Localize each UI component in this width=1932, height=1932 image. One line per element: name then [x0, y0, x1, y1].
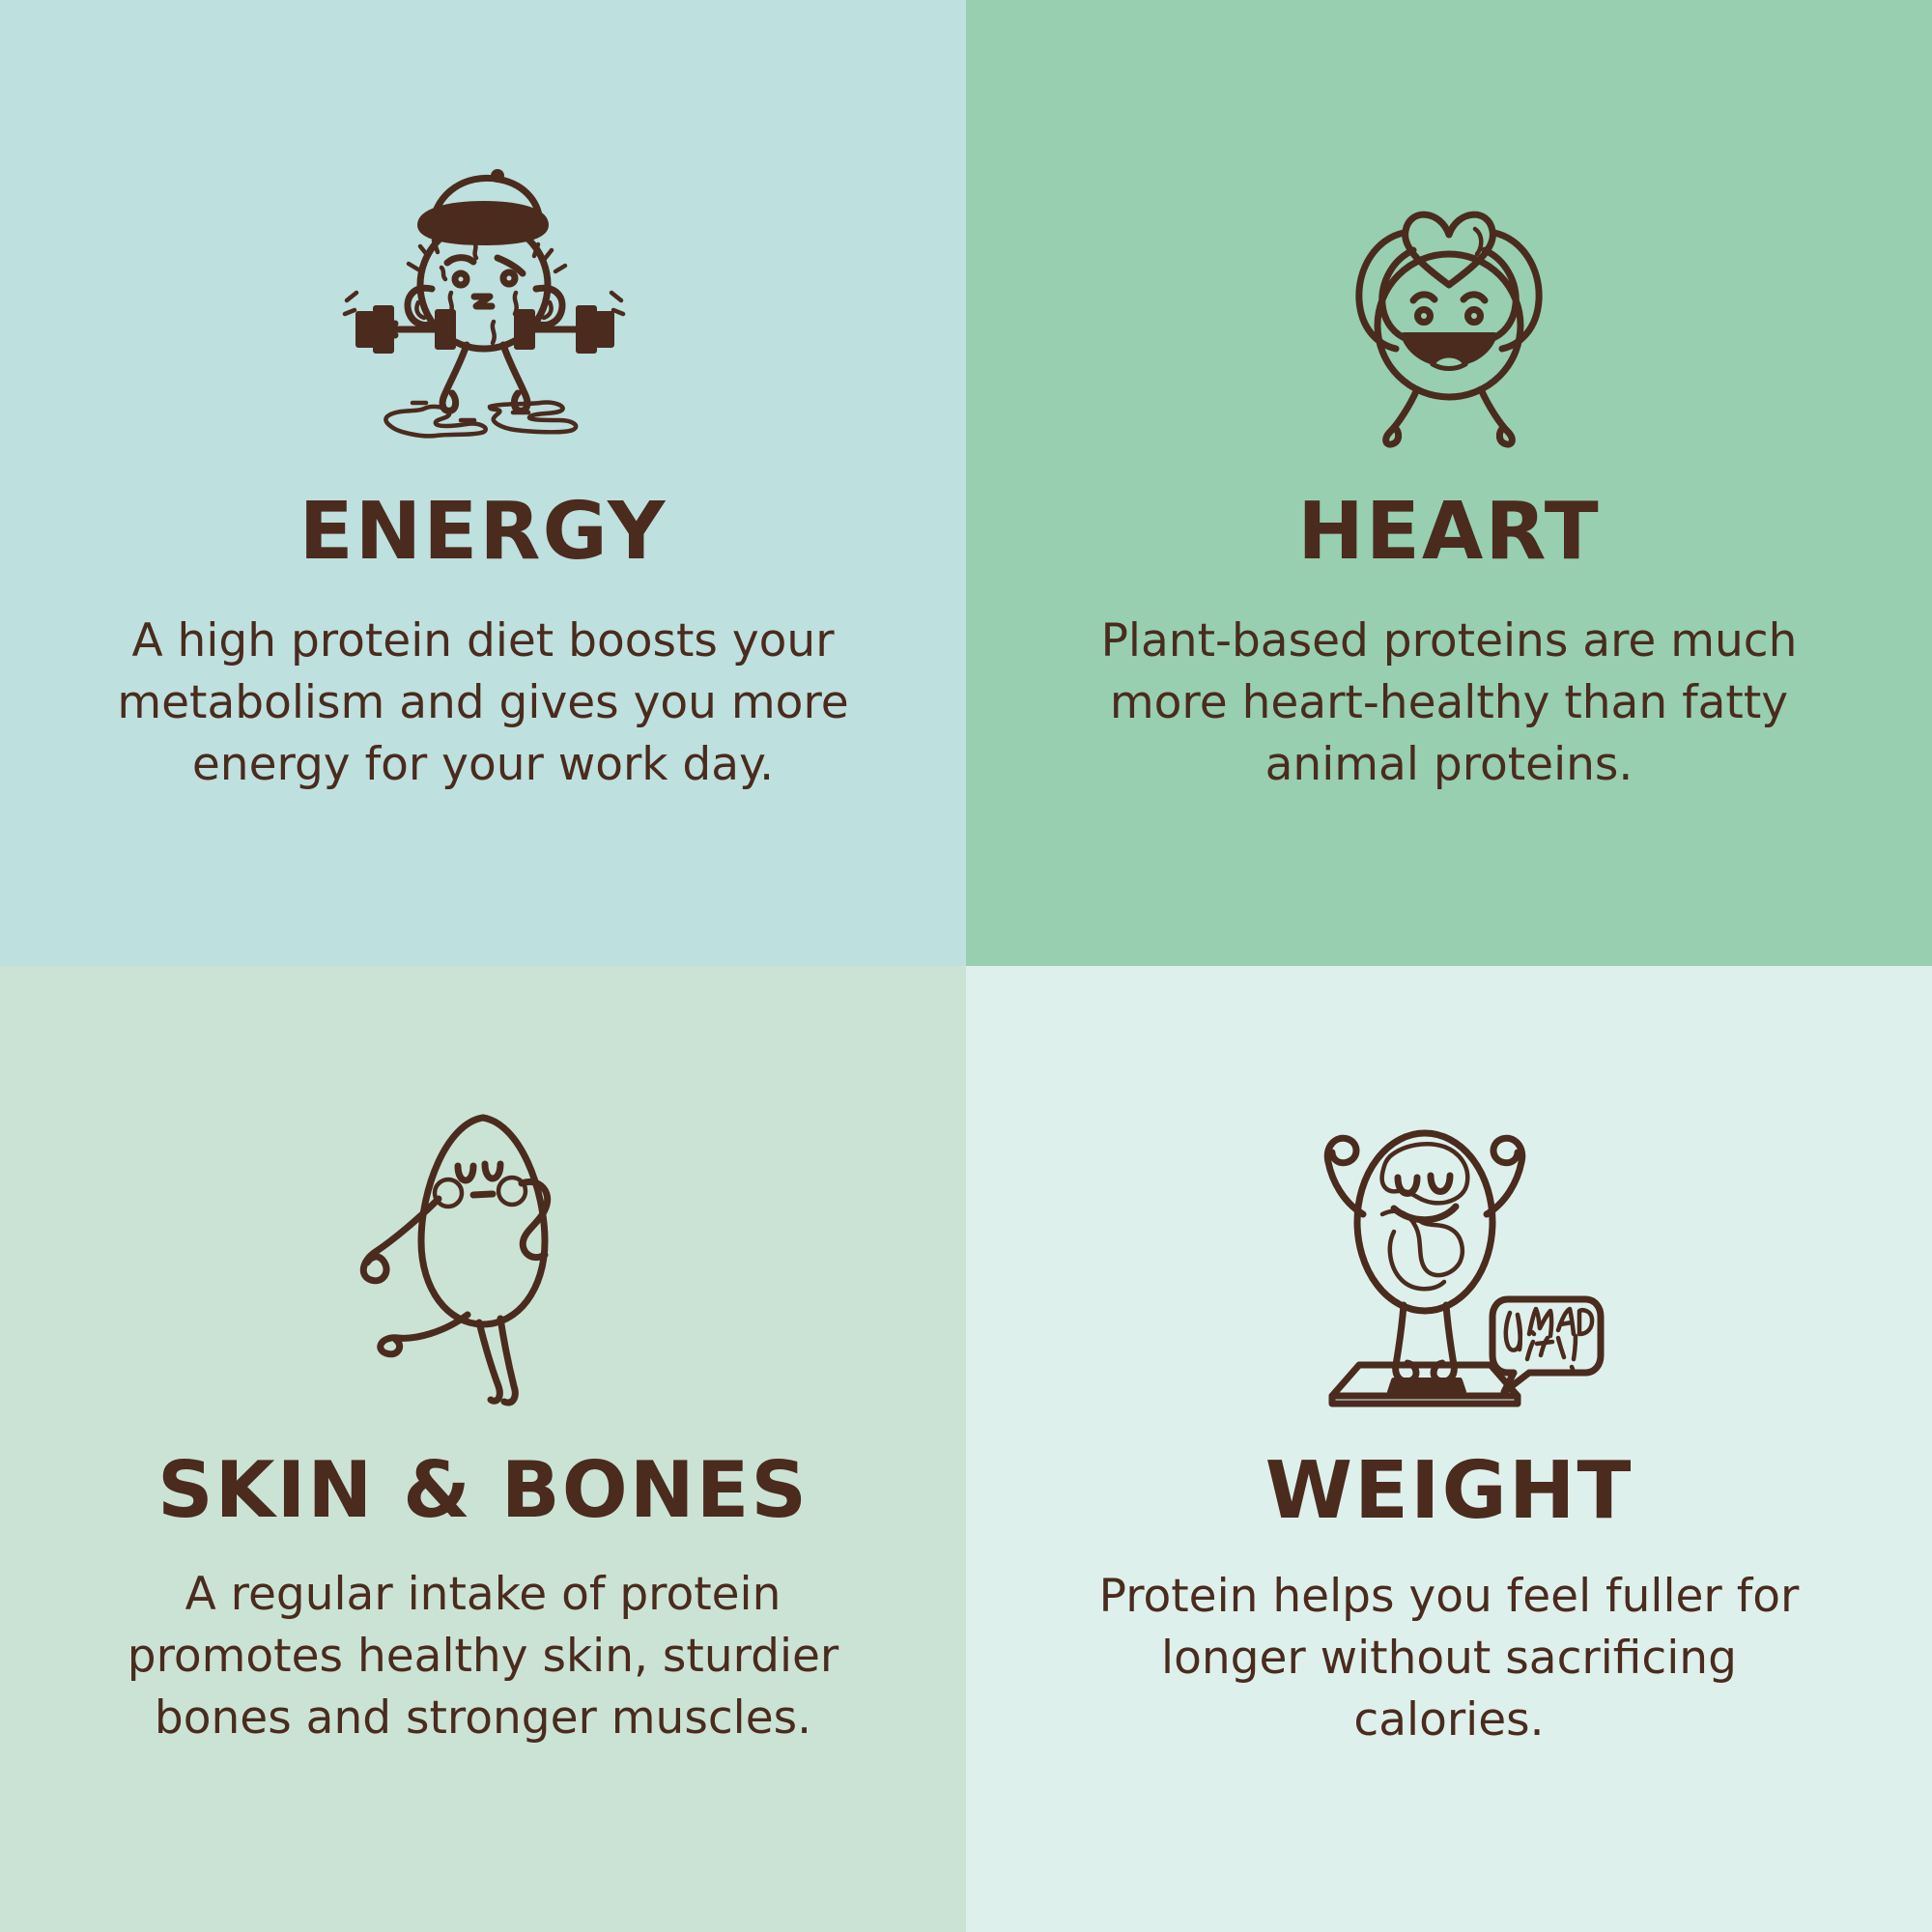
panel-title-skin-bones: SKIN & BONES: [157, 1452, 809, 1529]
infographic-grid: ENERGY A high protein diet boosts your m…: [0, 0, 1932, 1932]
illustration-energy: [0, 53, 966, 440]
illustration-heart: [966, 53, 1932, 440]
panel-heart: HEART Plant-based proteins are much more…: [966, 0, 1932, 966]
panel-energy: ENERGY A high protein diet boosts your m…: [0, 0, 966, 966]
panel-weight: WEIGHT Protein helps you feel fuller for…: [966, 966, 1932, 1932]
illustration-weight: [966, 1019, 1932, 1406]
illustration-skin-bones: [0, 1019, 966, 1406]
yoga-pose-character-icon: [338, 1096, 628, 1406]
panel-title-weight: WEIGHT: [1265, 1452, 1634, 1531]
weightlifting-character-icon: [324, 150, 642, 440]
scale-character-icon: [1290, 1106, 1608, 1406]
panel-body-energy: A high protein diet boosts your metaboli…: [58, 611, 908, 796]
panel-body-skin-bones: A regular intake of protein promotes hea…: [58, 1564, 908, 1749]
panel-body-weight: Protein helps you feel fuller for longer…: [1038, 1566, 1860, 1751]
panel-body-heart: Plant-based proteins are much more heart…: [1009, 611, 1889, 796]
panel-skin-bones: SKIN & BONES A regular intake of protein…: [0, 966, 966, 1932]
panel-title-energy: ENERGY: [299, 493, 668, 572]
panel-title-heart: HEART: [1297, 493, 1601, 572]
heart-arms-character-icon: [1328, 150, 1570, 440]
